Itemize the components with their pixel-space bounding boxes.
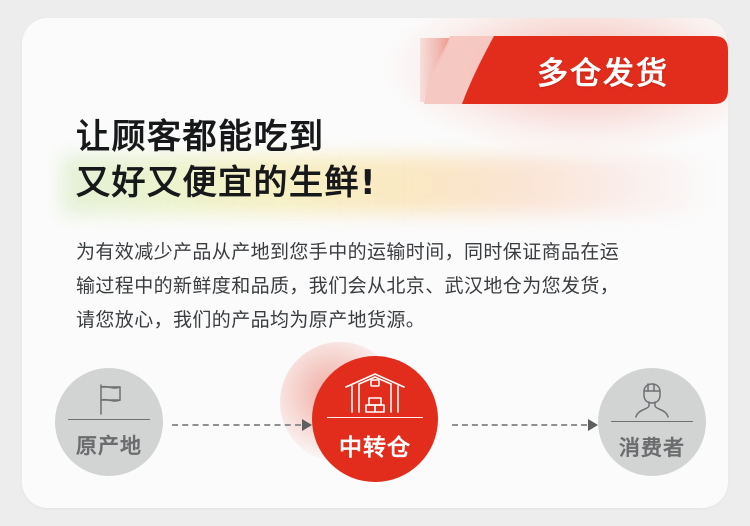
hub-divider bbox=[327, 417, 423, 418]
origin-divider bbox=[68, 419, 150, 420]
flow-node-consumer-label: 消费者 bbox=[619, 432, 685, 462]
arrow-right-icon bbox=[588, 419, 598, 431]
flag-icon bbox=[82, 382, 136, 416]
headline-line-2: 又好又便宜的生鲜! bbox=[76, 160, 716, 206]
headline: 让顾客都能吃到 又好又便宜的生鲜! bbox=[76, 114, 716, 206]
description-paragraph: 为有效减少产品从产地到您手中的运输时间，同时保证商品在运 输过程中的新鲜度和品质… bbox=[76, 235, 712, 337]
arrow-hub-to-consumer bbox=[452, 420, 598, 430]
promo-card: 多仓发货 让顾客都能吃到 又好又便宜的生鲜! 为有效减少产品从产地到您手中的运输… bbox=[22, 18, 728, 508]
flow-node-consumer: 消费者 bbox=[598, 368, 706, 476]
logistics-flow-diagram: 原产地 bbox=[22, 336, 728, 508]
flow-node-origin-label: 原产地 bbox=[76, 430, 142, 460]
flow-node-origin: 原产地 bbox=[55, 368, 163, 476]
description-line-1: 为有效减少产品从产地到您手中的运输时间，同时保证商品在运 bbox=[76, 235, 712, 269]
person-icon bbox=[627, 382, 677, 418]
flow-node-hub-label: 中转仓 bbox=[339, 428, 411, 462]
ribbon-label: 多仓发货 bbox=[420, 36, 728, 104]
arrow-right-icon bbox=[302, 419, 312, 431]
arrow-dashed-line bbox=[452, 424, 587, 426]
promo-banner-image: 多仓发货 让顾客都能吃到 又好又便宜的生鲜! 为有效减少产品从产地到您手中的运输… bbox=[0, 0, 750, 526]
flow-node-hub: 中转仓 bbox=[312, 356, 438, 482]
multi-warehouse-ribbon: 多仓发货 bbox=[420, 36, 728, 104]
consumer-divider bbox=[611, 421, 693, 422]
headline-line-1: 让顾客都能吃到 bbox=[76, 114, 716, 160]
description-line-2: 输过程中的新鲜度和品质，我们会从北京、武汉地仓为您发货， bbox=[76, 269, 712, 303]
arrow-dashed-line bbox=[172, 424, 301, 426]
warehouse-icon bbox=[338, 370, 412, 414]
arrow-origin-to-hub bbox=[172, 420, 312, 430]
description-line-3: 请您放心，我们的产品均为原产地货源。 bbox=[76, 303, 712, 337]
